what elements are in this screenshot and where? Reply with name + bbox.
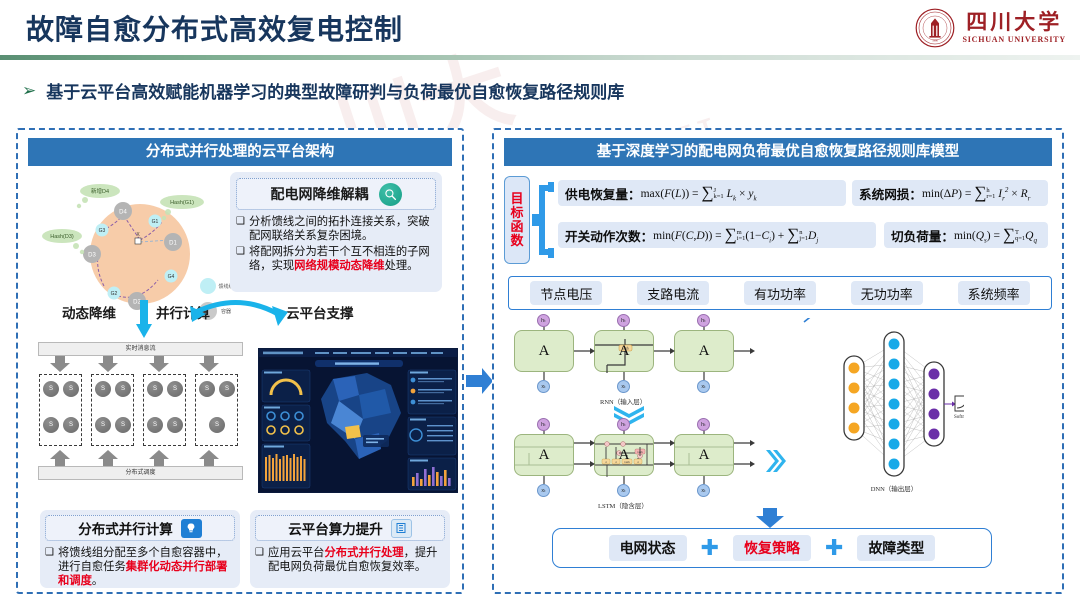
container-topbar: 实时消息流 <box>38 342 243 356</box>
container-node: S <box>43 417 59 433</box>
dnn-network: Softmax DNN（输出层） <box>834 326 964 501</box>
container-node: S <box>147 381 163 397</box>
logo-cn-text: 四川大学 <box>966 12 1062 33</box>
container-node: S <box>115 381 131 397</box>
decouple-bullet-1-text: 分析馈线之间的拓扑连接关系，突破配网联络关系复杂困境。 <box>249 215 436 243</box>
lightbulb-icon <box>181 519 202 538</box>
bullet-square-icon: ❑ <box>236 215 245 243</box>
tag-system-frequency[interactable]: 系统频率 <box>958 281 1030 305</box>
container-node: S <box>63 381 79 397</box>
container-box: S S S <box>195 374 238 446</box>
formula-system-loss-name: 系统网损： <box>859 184 922 203</box>
container-node: S <box>167 381 183 397</box>
decouple-bullet-2-text: 将配网拆分为若干个互不相连的子网络，实现网络规模动态降维处理。 <box>249 245 436 273</box>
objective-function-label: 目 标 函 数 <box>504 176 530 264</box>
formula-supply-restoration-name: 供电恢复量： <box>565 184 641 203</box>
cloud-power-bullet: ❑ 应用云平台分布式并行处理，提升配电网负荷最优自愈恢复效率。 <box>255 546 445 574</box>
section-bullet: ➢ 基于云平台高效赋能机器学习的典型故障研判与负荷最优自愈恢复路径规则库 <box>22 78 624 103</box>
panel-transition-arrow <box>466 368 494 394</box>
right-panel-title: 基于深度学习的配电网负荷最优自愈恢复路径规则库模型 <box>504 138 1052 166</box>
bullet-square-icon: ❑ <box>255 546 264 574</box>
parallel-compute-bullet: ❑ 将馈线组分配至多个自愈容器中，进行自愈任务集群化动态并行部署和调度。 <box>45 546 235 588</box>
parallel-compute-card: 分布式并行计算 ❑ 将馈线组分配至多个自愈容器中，进行自愈任务集群化动态并行部署… <box>40 510 240 588</box>
rnn-input-node: xₜ <box>537 380 550 393</box>
tag-branch-current[interactable]: 支路电流 <box>637 281 709 305</box>
objective-char-4: 数 <box>510 234 523 248</box>
svg-text:G2: G2 <box>111 291 118 297</box>
lstm-hidden-node: hₜ <box>697 418 710 431</box>
svg-text:G1: G1 <box>152 219 159 225</box>
bullet-arrow-icon: ➢ <box>22 81 36 101</box>
conclusion-down-arrow <box>756 508 784 528</box>
lstm-input-node: xₜ <box>617 484 630 497</box>
tag-active-power[interactable]: 有功功率 <box>744 281 816 305</box>
formula-load-shedding-name: 切负荷量： <box>891 226 954 245</box>
bullet-square-icon: ❑ <box>236 245 245 273</box>
rnn-input-node: xₜ <box>697 380 710 393</box>
tag-node-voltage[interactable]: 节点电压 <box>530 281 602 305</box>
plus-icon: ✚ <box>825 537 843 559</box>
lstm-hidden-node: hₜ <box>537 418 550 431</box>
rnn-hidden-node: hₜ <box>537 314 550 327</box>
conclusion-tag-fault-type[interactable]: 故障类型 <box>857 535 935 561</box>
parallel-compute-card-header: 分布式并行计算 <box>45 515 235 541</box>
decouple-card: 配电网降维解耦 ❑ 分析馈线之间的拓扑连接关系，突破配网联络关系复杂困境。 ❑ … <box>230 172 442 292</box>
objective-char-1: 目 <box>510 192 523 206</box>
parallel-compute-bullet-text: 将馈线组分配至多个自愈容器中，进行自愈任务集群化动态并行部署和调度。 <box>58 546 235 588</box>
container-node: S <box>147 417 163 433</box>
conclusion-tag-grid-state[interactable]: 电网状态 <box>609 535 687 561</box>
topology-label-hash-g1: Hash(G1) <box>170 200 194 206</box>
container-node: S <box>43 381 59 397</box>
container-node: S <box>209 417 225 433</box>
container-scheduling-diagram: 实时消息流 S S S S S S S S <box>38 342 243 507</box>
cloud-power-highlight: 分布式并行处理 <box>324 547 403 559</box>
svg-text:D3: D3 <box>88 253 96 259</box>
scu-seal-icon: 1896 <box>915 8 955 48</box>
topology-label-new-d4: 新增D4 <box>91 187 109 195</box>
deep-learning-model-diagram: A tanh A A <box>504 318 1056 523</box>
decouple-card-header: 配电网降维解耦 <box>236 178 436 210</box>
cloud-power-card-title: 云平台算力提升 <box>288 518 383 538</box>
decouple-bullet-2: ❑ 将配网拆分为若干个互不相连的子网络，实现网络规模动态降维处理。 <box>236 245 436 273</box>
server-icon <box>391 519 412 538</box>
decouple-bullet-2-highlight: 网络规模动态降维 <box>294 260 384 272</box>
container-node: S <box>167 417 183 433</box>
formula-switch-operations-expr: min(F(C,D)) = ∑mi=1(1−Ci) + ∑nj=1Dj <box>653 225 818 245</box>
topology-label-hash-d3: Hash(D3) <box>50 234 74 240</box>
formula-load-shedding: 切负荷量： min(Qs) = ∑Tq=1Qq <box>884 222 1048 248</box>
lstm-input-node: xₜ <box>537 484 550 497</box>
flow-arrows <box>48 298 408 346</box>
cloud-power-card-header: 云平台算力提升 <box>255 515 445 541</box>
formula-switch-operations: 开关动作次数： min(F(C,D)) = ∑mi=1(1−Ci) + ∑nj=… <box>558 222 876 248</box>
left-panel: 分布式并行处理的云平台架构 D4 D3 D2 D1 G1 G2 G3 G4 <box>16 128 464 594</box>
svg-text:G3: G3 <box>99 228 106 234</box>
section-heading: 基于云平台高效赋能机器学习的典型故障研判与负荷最优自愈恢复路径规则库 <box>46 78 624 103</box>
decouple-card-title: 配电网降维解耦 <box>271 184 369 204</box>
header-divider <box>0 55 1080 60</box>
objective-char-3: 函 <box>510 220 523 234</box>
slide-header: 故障自愈分布式高效复电控制 1896 四川大学 SICHUAN UNIVERSI… <box>0 0 1080 62</box>
svg-text:G4: G4 <box>168 274 175 280</box>
parallel-compute-card-title: 分布式并行计算 <box>78 518 173 538</box>
down-arrows <box>38 356 243 372</box>
slide-root: 川大 川大 大学 SCU 故障自愈分布式高效复电控制 1896 四川大学 SIC… <box>0 0 1080 608</box>
cloud-platform-dashboard-image <box>258 348 458 493</box>
logo-en-text: SICHUAN UNIVERSITY <box>962 36 1066 44</box>
cloud-power-bullet-text: 应用云平台分布式并行处理，提升配电网负荷最优自愈恢复效率。 <box>268 546 445 574</box>
container-node: S <box>199 381 215 397</box>
cloud-power-card: 云平台算力提升 ❑ 应用云平台分布式并行处理，提升配电网负荷最优自愈恢复效率。 <box>250 510 450 588</box>
formula-switch-operations-name: 开关动作次数： <box>565 226 653 245</box>
rnn-layer-label: RNN（输入层） <box>600 396 646 406</box>
conclusion-row: 电网状态 ✚ 恢复策略 ✚ 故障类型 <box>552 528 992 568</box>
up-arrows <box>38 450 243 466</box>
left-panel-title: 分布式并行处理的云平台架构 <box>28 138 452 166</box>
plus-icon: ✚ <box>701 537 719 559</box>
rnn-input-node: xₜ <box>617 380 630 393</box>
tag-reactive-power[interactable]: 无功功率 <box>851 281 923 305</box>
formula-supply-restoration: 供电恢复量： max(F(L)) = ∑Jk=1 Lk × yk <box>558 180 846 206</box>
magnifier-icon <box>379 183 402 206</box>
rnn-hidden-node: hₜ <box>697 314 710 327</box>
right-chevrons-icon <box>766 448 792 474</box>
dnn-layer-label: DNN（输出层） <box>871 484 918 493</box>
objective-brace-icon <box>532 178 554 262</box>
container-box: S S S S <box>91 374 134 446</box>
container-node: S <box>95 417 111 433</box>
lstm-hidden-node: hₜ <box>617 418 630 431</box>
conclusion-tag-restoration-strategy[interactable]: 恢复策略 <box>733 535 811 561</box>
lstm-input-node: xₜ <box>697 484 710 497</box>
objective-char-2: 标 <box>510 206 523 220</box>
bullet-square-icon: ❑ <box>45 546 54 588</box>
container-node: S <box>115 417 131 433</box>
right-panel: 基于深度学习的配电网负荷最优自愈恢复路径规则库模型 目 标 函 数 供电恢复量：… <box>492 128 1064 594</box>
container-node: S <box>95 381 111 397</box>
svg-text:D4: D4 <box>119 210 127 216</box>
container-box: S S S S <box>39 374 82 446</box>
softmax-label: Softmax <box>954 415 964 420</box>
container-node: S <box>219 381 235 397</box>
formula-system-loss-expr: min(ΔP) = ∑hr=1 Ir2 × Rr <box>922 183 1030 203</box>
formula-system-loss: 系统网损： min(ΔP) = ∑hr=1 Ir2 × Rr <box>852 180 1048 206</box>
svg-text:D1: D1 <box>169 241 177 247</box>
container-node: S <box>63 417 79 433</box>
page-title: 故障自愈分布式高效复电控制 <box>26 8 403 48</box>
container-bottombar: 分布式调度 <box>38 466 243 480</box>
state-feature-tag-row: 节点电压 支路电流 有功功率 无功功率 系统频率 <box>508 276 1052 310</box>
formula-supply-restoration-expr: max(F(L)) = ∑Jk=1 Lk × yk <box>641 183 757 203</box>
university-logo: 1896 四川大学 SICHUAN UNIVERSITY <box>915 8 1066 48</box>
rnn-hidden-node: hₜ <box>617 314 630 327</box>
lstm-layer-label: LSTM（隐含层） <box>598 500 648 510</box>
svg-text:1896: 1896 <box>933 40 939 43</box>
formula-load-shedding-expr: min(Qs) = ∑Tq=1Qq <box>954 225 1037 245</box>
container-box: S S S S <box>143 374 186 446</box>
decouple-bullet-1: ❑ 分析馈线之间的拓扑连接关系，突破配网联络关系复杂困境。 <box>236 215 436 243</box>
